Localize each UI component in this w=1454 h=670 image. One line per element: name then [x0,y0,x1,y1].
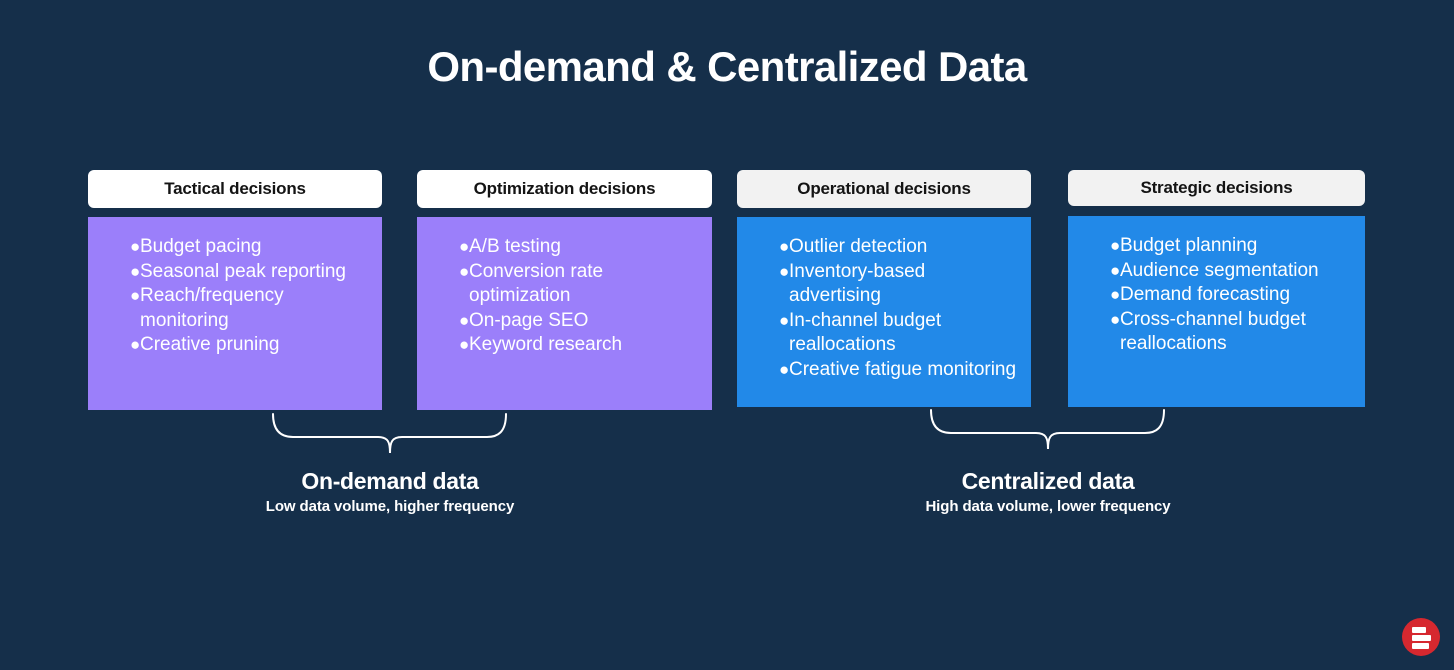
list-item: ● In-channel budget reallocations [747,309,1021,358]
list-item: ● Inventory-based advertising [747,260,1021,309]
bullet-icon: ● [747,235,789,260]
bullet-icon: ● [427,235,469,260]
list-item-label: Keyword research [469,333,702,358]
logo-bar-1 [1412,627,1426,633]
list-item-label: Reach/frequency monitoring [140,284,372,333]
list-item-label: Outlier detection [789,235,1021,260]
bullet-icon: ● [427,333,469,358]
bullet-icon: ● [1078,308,1120,333]
list-item: ● Demand forecasting [1078,283,1355,308]
list-item: ● Budget pacing [98,235,372,260]
column-operational: Operational decisions ● Outlier detectio… [737,170,1031,407]
column-optimization: Optimization decisions ● A/B testing ● C… [417,170,712,410]
group-subtitle: High data volume, lower frequency [848,496,1248,518]
group-subtitle: Low data volume, higher frequency [190,496,590,518]
column-header-label: Strategic decisions [1140,178,1292,198]
column-body-operational: ● Outlier detection ● Inventory-based ad… [737,217,1031,407]
bullet-icon: ● [98,284,140,309]
list-item: ● Creative fatigue monitoring [747,358,1021,383]
column-header-label: Optimization decisions [474,179,656,199]
bullet-icon: ● [98,260,140,285]
bullet-icon: ● [1078,234,1120,259]
bullet-icon: ● [98,333,140,358]
brand-logo-icon[interactable] [1402,618,1440,656]
list-item: ● Creative pruning [98,333,372,358]
group-label-centralized: Centralized data High data volume, lower… [848,466,1248,518]
bullet-icon: ● [427,309,469,334]
bullet-icon: ● [1078,259,1120,284]
bullet-icon: ● [427,260,469,285]
list-item: ● Budget planning [1078,234,1355,259]
bullet-icon: ● [747,358,789,383]
list-item: ● Cross-channel budget reallocations [1078,308,1355,357]
list-item-label: Demand forecasting [1120,283,1355,308]
page-title: On-demand & Centralized Data [0,44,1454,90]
list-item-label: Seasonal peak reporting [140,260,372,285]
column-tactical: Tactical decisions ● Budget pacing ● Sea… [88,170,382,410]
column-strategic: Strategic decisions ● Budget planning ● … [1068,170,1365,407]
bullet-icon: ● [1078,283,1120,308]
column-header-tactical: Tactical decisions [88,170,382,208]
column-body-optimization: ● A/B testing ● Conversion rate optimiza… [417,217,712,410]
column-header-operational: Operational decisions [737,170,1031,208]
group-title: On-demand data [190,466,590,496]
list-item-label: Budget planning [1120,234,1355,259]
bullet-icon: ● [98,235,140,260]
bullet-list-strategic: ● Budget planning ● Audience segmentatio… [1078,234,1355,357]
list-item-label: Creative fatigue monitoring [789,358,1021,383]
list-item-label: Audience segmentation [1120,259,1355,284]
list-item: ● Audience segmentation [1078,259,1355,284]
list-item: ● A/B testing [427,235,702,260]
list-item-label: Creative pruning [140,333,372,358]
decision-columns: Tactical decisions ● Budget pacing ● Sea… [88,170,1368,420]
list-item: ● Outlier detection [747,235,1021,260]
bullet-icon: ● [747,260,789,285]
list-item-label: Cross-channel budget reallocations [1120,308,1355,357]
list-item: ● Keyword research [427,333,702,358]
logo-bar-2 [1412,635,1431,641]
list-item-label: On-page SEO [469,309,702,334]
bullet-list-tactical: ● Budget pacing ● Seasonal peak reportin… [98,235,372,358]
bullet-icon: ● [747,309,789,334]
list-item: ● On-page SEO [427,309,702,334]
column-body-tactical: ● Budget pacing ● Seasonal peak reportin… [88,217,382,410]
list-item-label: In-channel budget reallocations [789,309,1021,358]
list-item-label: Budget pacing [140,235,372,260]
list-item-label: Inventory-based advertising [789,260,1021,309]
bullet-list-optimization: ● A/B testing ● Conversion rate optimiza… [427,235,702,358]
list-item: ● Seasonal peak reporting [98,260,372,285]
list-item: ● Reach/frequency monitoring [98,284,372,333]
logo-bar-3 [1412,643,1429,649]
group-title: Centralized data [848,466,1248,496]
list-item-label: A/B testing [469,235,702,260]
list-item-label: Conversion rate optimization [469,260,702,309]
list-item: ● Conversion rate optimization [427,260,702,309]
column-header-optimization: Optimization decisions [417,170,712,208]
bullet-list-operational: ● Outlier detection ● Inventory-based ad… [747,235,1021,383]
column-header-strategic: Strategic decisions [1068,170,1365,206]
group-label-on-demand: On-demand data Low data volume, higher f… [190,466,590,518]
column-header-label: Operational decisions [797,179,970,199]
column-header-label: Tactical decisions [164,179,306,199]
column-body-strategic: ● Budget planning ● Audience segmentatio… [1068,216,1365,407]
